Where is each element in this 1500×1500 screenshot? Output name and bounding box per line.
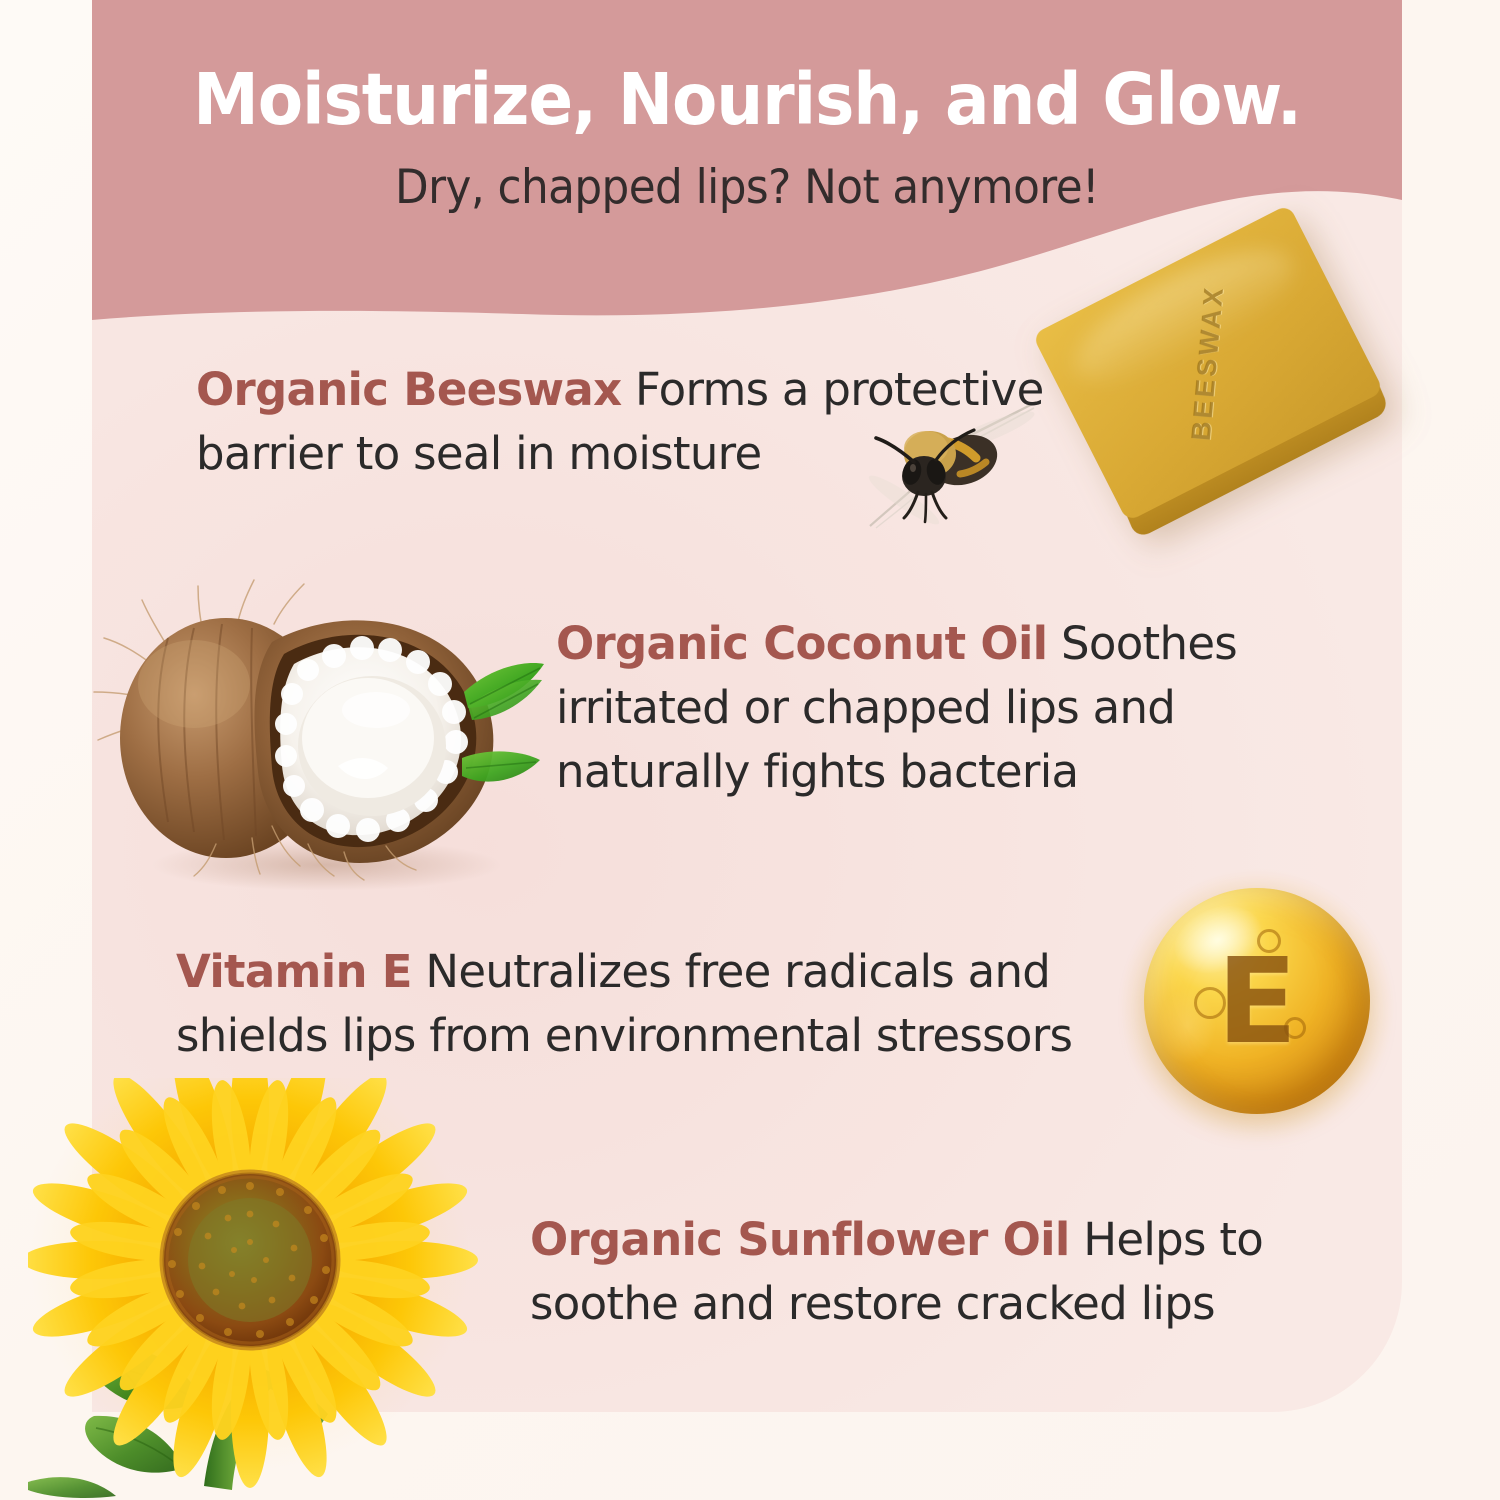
vitamin-e-sphere: E (1144, 888, 1370, 1114)
infographic-canvas: Moisturize, Nourish, and Glow. Dry, chap… (0, 0, 1500, 1500)
ingredient-coconut-oil: Organic Coconut Oil Soothes irritated or… (556, 612, 1286, 804)
ingredient-beeswax: Organic Beeswax Forms a protective barri… (196, 358, 1076, 486)
sunflower-image (28, 1078, 498, 1500)
vitamin-e-letter: E (1144, 888, 1370, 1114)
ingredient-name-coconut-oil: Organic Coconut Oil (556, 617, 1047, 670)
header: Moisturize, Nourish, and Glow. Dry, chap… (92, 0, 1402, 214)
ingredient-sunflower-oil: Organic Sunflower Oil Helps to soothe an… (530, 1208, 1300, 1336)
page-subtitle: Dry, chapped lips? Not anymore! (138, 162, 1356, 214)
ingredient-name-sunflower-oil: Organic Sunflower Oil (530, 1213, 1070, 1266)
ingredient-name-beeswax: Organic Beeswax (196, 363, 621, 416)
page-title: Moisturize, Nourish, and Glow. (138, 64, 1356, 136)
ingredient-vitamin-e: Vitamin E Neutralizes free radicals and … (176, 940, 1136, 1068)
coconut-image (76, 560, 546, 890)
ingredient-name-vitamin-e: Vitamin E (176, 945, 412, 998)
vitamin-e-droplet-image: E (1144, 888, 1370, 1114)
